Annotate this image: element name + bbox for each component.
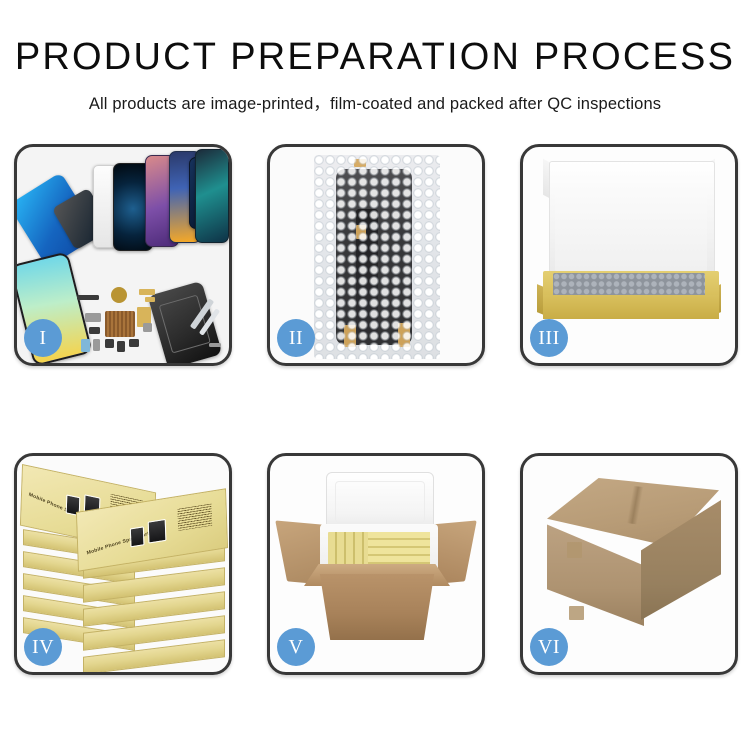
carton-tape-upper-icon	[567, 542, 582, 558]
speaker-part-icon	[77, 295, 99, 300]
bubble-bag-front-icon	[314, 155, 440, 359]
carton-body-icon	[312, 574, 442, 640]
screw-part-icon	[93, 339, 100, 351]
vibrator-icon	[143, 323, 152, 332]
badge-step-1: I	[24, 319, 62, 357]
badge-step-6: VI	[530, 628, 568, 666]
badge-step-3: III	[530, 319, 568, 357]
sim-tray-icon	[209, 343, 221, 347]
logic-board-icon	[105, 311, 135, 337]
small-chip-4-icon	[129, 339, 139, 347]
process-steps-grid: I II	[14, 144, 738, 674]
styrofoam-lid-icon	[326, 472, 434, 532]
connector-icon	[145, 297, 155, 302]
badge-step-4: IV	[24, 628, 62, 666]
box-label-window-3	[130, 526, 145, 547]
flex-cable-icon	[139, 289, 155, 295]
panel-step-5: V	[267, 453, 485, 675]
small-chip-2-icon	[105, 339, 114, 348]
camera-module-icon	[111, 287, 127, 303]
white-foam-sheet-icon	[555, 193, 707, 271]
panel-step-4: Mobile Phone Spare Parts Mobile Phone Sp…	[14, 453, 232, 675]
product-preparation-infographic: PRODUCT PREPARATION PROCESS All products…	[0, 0, 750, 750]
yellow-box-front-icon	[543, 295, 719, 319]
box-label-window-4	[148, 519, 167, 544]
badge-step-5: V	[277, 628, 315, 666]
panel-step-6: VI	[520, 453, 738, 675]
page-title: PRODUCT PREPARATION PROCESS	[0, 38, 750, 76]
header: PRODUCT PREPARATION PROCESS All products…	[0, 0, 750, 114]
page-subtitle: All products are image-printed，film-coat…	[0, 90, 750, 114]
carton-tape-lower-icon	[569, 606, 584, 620]
badge-step-2: II	[277, 319, 315, 357]
panel-step-3: III	[520, 144, 738, 366]
battery-part-icon	[81, 339, 90, 352]
metal-bracket-icon	[85, 313, 101, 322]
panel-step-1: I	[14, 144, 232, 366]
teal-phone-screen-icon	[195, 149, 229, 243]
panel-step-2: II	[267, 144, 485, 366]
small-chip-icon	[89, 327, 100, 334]
small-chip-3-icon	[117, 341, 125, 352]
